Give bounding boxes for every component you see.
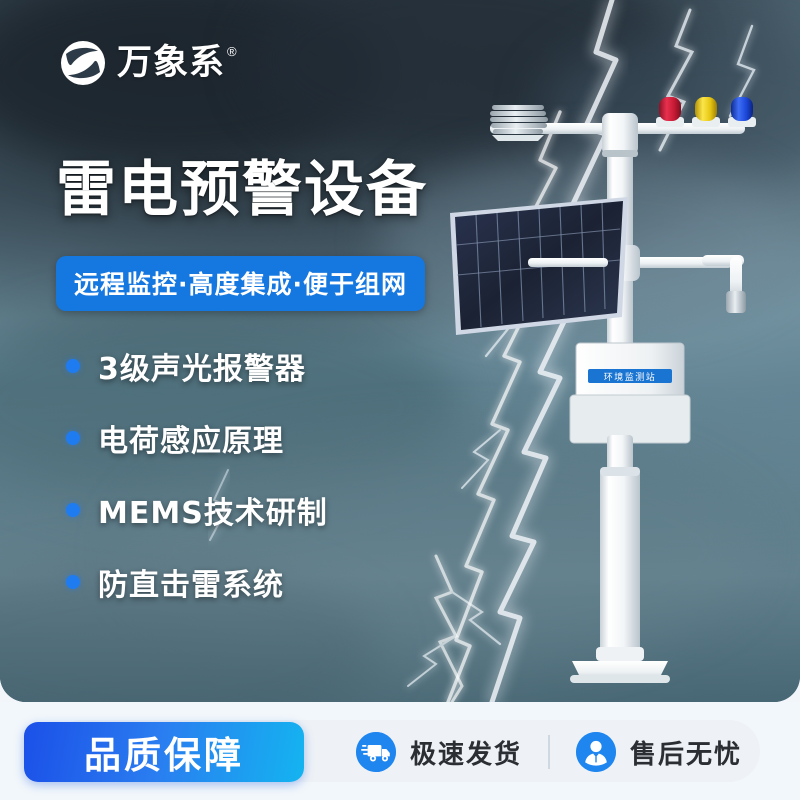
radiation-shield-sensor (490, 105, 548, 141)
brand-wordmark: 万象系 ® (117, 46, 237, 81)
brand-logo: 万象系 ® (58, 38, 237, 88)
red-alarm-light (659, 97, 681, 121)
sensor-arm (702, 255, 746, 313)
registered-mark: ® (227, 44, 237, 59)
trust-item-label: 极速发货 (410, 734, 522, 771)
alarm-light-stack (656, 97, 756, 127)
blue-alarm-light (731, 97, 753, 121)
solar-panel (450, 197, 628, 335)
quality-guarantee-label: 品质保障 (84, 725, 244, 779)
customer-service-person-icon (576, 732, 616, 772)
mounting-pole-lower (600, 467, 640, 655)
hero-image-area: 环境监测站 (0, 0, 800, 702)
yellow-alarm-light (695, 97, 717, 121)
subtitle-badge: 远程监控·高度集成·便于组网 (56, 256, 425, 311)
blue-dot-icon (66, 575, 80, 589)
blue-dot-icon (66, 431, 80, 445)
list-item: 防直击雷系统 (66, 560, 328, 604)
boom-sensor-head (726, 291, 746, 313)
control-enclosure: 环境监测站 (570, 343, 690, 443)
trust-item-after-sales[interactable]: 售后无忧 (550, 732, 768, 772)
list-item: 3级声光报警器 (66, 344, 328, 388)
brand-name-text: 万象系 (117, 46, 225, 81)
list-item: MEMS技术研制 (66, 488, 328, 532)
feature-label: 3级声光报警器 (98, 344, 306, 388)
quality-guarantee-chip[interactable]: 品质保障 (24, 722, 304, 782)
base-flange (570, 647, 670, 683)
mounting-pole-mid (607, 435, 633, 471)
feature-label: 电荷感应原理 (98, 416, 284, 460)
page-title: 雷电预警设备 (56, 158, 428, 223)
panel-mount-arm (528, 258, 608, 267)
trust-item-list: 极速发货 售后无忧 (330, 722, 768, 782)
list-item: 电荷感应原理 (66, 416, 328, 460)
delivery-truck-icon (356, 732, 396, 772)
blue-dot-icon (66, 503, 80, 517)
feature-label: 防直击雷系统 (98, 560, 284, 604)
feature-list: 3级声光报警器 电荷感应原理 MEMS技术研制 防直击雷系统 (66, 344, 328, 604)
blue-dot-icon (66, 359, 80, 373)
trust-item-fast-delivery[interactable]: 极速发货 (330, 732, 548, 772)
poster-root: 环境监测站 (0, 0, 800, 800)
product-device: 环境监测站 (440, 95, 800, 695)
circular-swoosh-logo-icon (58, 38, 108, 88)
arm-hub (602, 113, 638, 155)
trust-item-label: 售后无忧 (630, 734, 742, 771)
feature-label: MEMS技术研制 (98, 488, 328, 532)
enclosure-label-text: 环境监测站 (604, 371, 657, 383)
